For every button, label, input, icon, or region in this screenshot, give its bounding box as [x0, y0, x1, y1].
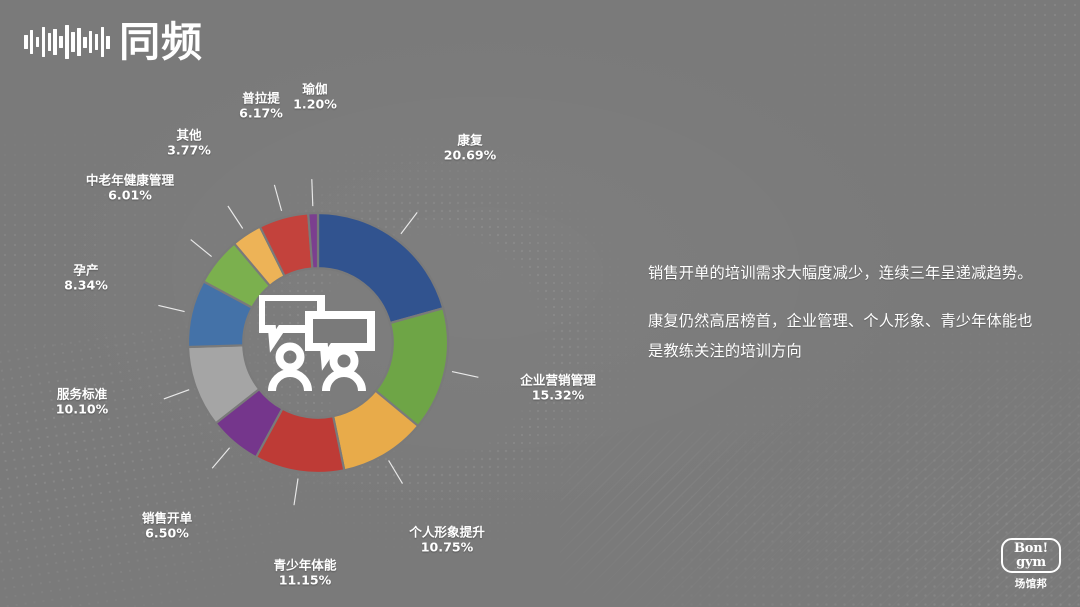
leader-line [452, 372, 478, 378]
pie-label-name: 销售开单 [142, 511, 192, 526]
pie-label-percent: 15.32% [520, 388, 596, 403]
pie-label: 中老年健康管理6.01% [86, 173, 174, 204]
brand-logo: 同频 [24, 20, 203, 64]
waveform-bar [48, 33, 52, 51]
waveform-bar [89, 31, 93, 53]
waveform-bar [95, 34, 99, 50]
pie-label: 销售开单6.50% [142, 511, 192, 542]
pie-label: 个人形象提升10.75% [409, 525, 485, 556]
waveform-bar [71, 32, 75, 52]
brand-name: 同频 [119, 20, 203, 64]
pie-label-name: 个人形象提升 [409, 525, 485, 540]
pie-label-percent: 6.50% [142, 526, 192, 541]
pie-label-percent: 6.01% [86, 188, 174, 203]
pie-label: 康复20.69% [444, 133, 496, 164]
two-people-chat-icon [259, 295, 377, 391]
partner-logo-line2: gym [1016, 556, 1046, 569]
audio-waveform-icon [24, 20, 110, 64]
partner-logo: Bon! gym 场馆邦 [998, 535, 1064, 593]
pie-label-percent: 3.77% [167, 143, 211, 158]
waveform-bar [53, 29, 57, 55]
slide-canvas: 同频 康复20.69%企业营销管理15.32%个人形象提升10.75%青少年体能… [0, 0, 1080, 607]
pie-label-percent: 6.17% [239, 106, 283, 121]
leader-line [164, 390, 189, 399]
leader-line [212, 448, 229, 469]
leader-line [294, 479, 298, 506]
background-dot-texture-topright [780, 0, 1080, 240]
commentary-paragraph-1: 销售开单的培训需求大幅度减少，连续三年呈递减趋势。 [648, 258, 1046, 288]
leader-line [274, 185, 281, 211]
pie-label-percent: 10.10% [56, 402, 108, 417]
pie-label-name: 瑜伽 [302, 82, 327, 97]
pie-label: 瑜伽1.20% [293, 82, 337, 113]
pie-label-percent: 10.75% [409, 540, 485, 555]
pie-label-percent: 8.34% [64, 278, 108, 293]
pie-label-name: 康复 [457, 133, 482, 148]
partner-logo-line3: 场馆邦 [1015, 576, 1047, 591]
leader-line [191, 240, 212, 257]
pie-label: 普拉提6.17% [239, 91, 283, 122]
partner-logo-pill: Bon! gym [1001, 538, 1061, 573]
leader-line [312, 179, 313, 206]
leader-line [158, 305, 184, 311]
waveform-bar [59, 36, 63, 48]
pie-label: 企业营销管理15.32% [520, 373, 596, 404]
waveform-bar [30, 30, 34, 54]
commentary-block: 销售开单的培训需求大幅度减少，连续三年呈递减趋势。 康复仍然高居榜首，企业管理、… [648, 258, 1046, 366]
commentary-paragraph-2: 康复仍然高居榜首，企业管理、个人形象、青少年体能也是教练关注的培训方向 [648, 306, 1046, 366]
pie-label-name: 企业营销管理 [520, 373, 596, 388]
pie-label: 青少年体能11.15% [274, 558, 337, 589]
waveform-bar [77, 28, 81, 56]
pie-label-name: 服务标准 [57, 387, 107, 402]
leader-line [401, 212, 417, 234]
pie-label-percent: 1.20% [293, 97, 337, 112]
waveform-bar [36, 37, 40, 47]
pie-label-name: 其他 [176, 128, 201, 143]
leader-line [228, 206, 243, 229]
donut-chart: 康复20.69%企业营销管理15.32%个人形象提升10.75%青少年体能11.… [0, 0, 660, 607]
pie-label-name: 中老年健康管理 [86, 173, 174, 188]
waveform-bar [42, 27, 46, 57]
pie-label-percent: 20.69% [444, 148, 496, 163]
waveform-bar [106, 36, 110, 49]
waveform-bar [101, 27, 105, 57]
pie-label-percent: 11.15% [274, 573, 337, 588]
pie-label-name: 青少年体能 [274, 558, 337, 573]
pie-label: 其他3.77% [167, 128, 211, 159]
waveform-bar [83, 37, 87, 48]
partner-logo-line1: Bon! [1014, 542, 1048, 555]
pie-label-name: 普拉提 [242, 91, 280, 106]
pie-label: 孕产8.34% [64, 263, 108, 294]
pie-label-name: 孕产 [73, 263, 98, 278]
waveform-bar [65, 25, 69, 59]
waveform-bar [24, 35, 28, 49]
pie-label: 服务标准10.10% [56, 387, 108, 418]
leader-line [389, 460, 403, 483]
